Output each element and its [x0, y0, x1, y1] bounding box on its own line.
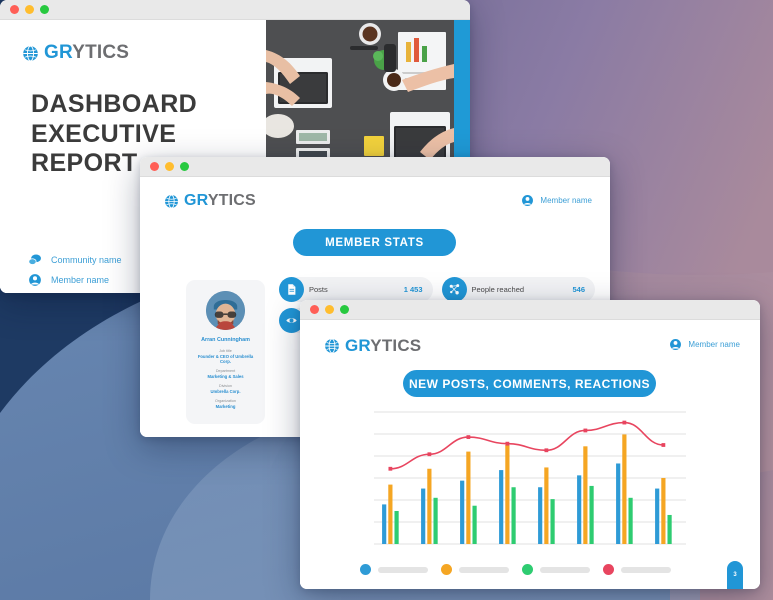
- trend-point-5: [544, 448, 548, 452]
- profile-field-organization: Organization Marketing: [192, 399, 259, 409]
- stats-row: Posts 1 453 People reached 546: [279, 277, 595, 302]
- legend-item-trend[interactable]: [603, 564, 671, 575]
- legend-item-posts[interactable]: [360, 564, 428, 575]
- avatar: [206, 291, 245, 330]
- member-badge[interactable]: Member name: [669, 338, 740, 351]
- chart-window-body: GRYTICS Member name NEW POSTS, COMMENTS,…: [300, 320, 760, 589]
- bar-posts-4: [499, 470, 503, 544]
- member-badge-label: Member name: [688, 340, 740, 349]
- logo-text-gr: GR: [184, 192, 208, 209]
- grytics-wordmark: GRYTICS: [345, 336, 421, 356]
- close-button[interactable]: [150, 162, 159, 171]
- bar-comments-1: [388, 485, 392, 544]
- grytics-wordmark: GRYTICS: [44, 42, 129, 64]
- document-icon: [279, 277, 304, 302]
- profile-field-division: Division Umbrella Corp.: [192, 384, 259, 394]
- field-value: Marketing: [192, 404, 259, 409]
- bar-comments-2: [427, 469, 431, 544]
- user-circle-icon: [669, 338, 682, 351]
- globe-icon: [22, 45, 39, 62]
- bar-reactions-7: [628, 498, 632, 544]
- grytics-logo[interactable]: GRYTICS: [324, 336, 421, 356]
- network-icon: [442, 277, 467, 302]
- trend-point-7: [622, 421, 626, 425]
- minimize-button[interactable]: [165, 162, 174, 171]
- legend-dot-reactions: [522, 564, 533, 575]
- stat-posts[interactable]: Posts 1 453: [279, 277, 433, 302]
- profile-name: Arran Cunningham: [192, 337, 259, 344]
- grytics-logo[interactable]: GRYTICS: [164, 192, 256, 210]
- bar-comments-8: [661, 478, 665, 544]
- legend-placeholder-bar: [540, 567, 590, 573]
- maximize-button[interactable]: [340, 305, 349, 314]
- profile-card: Arran Cunningham Job title Founder & CEO…: [186, 280, 265, 424]
- trend-point-2: [427, 452, 431, 456]
- legend-dot-comments: [441, 564, 452, 575]
- bar-posts-8: [655, 489, 659, 544]
- legend-dot-posts: [360, 564, 371, 575]
- chart-svg: [374, 408, 686, 548]
- minimize-button[interactable]: [25, 5, 34, 14]
- chart-window-titlebar[interactable]: [300, 300, 760, 320]
- cover-window-titlebar[interactable]: [0, 0, 470, 20]
- maximize-button[interactable]: [40, 5, 49, 14]
- bar-posts-5: [538, 487, 542, 544]
- stat-value: 1 453: [404, 285, 423, 294]
- chart-bars: [382, 434, 672, 544]
- stat-label: People reached: [472, 285, 573, 294]
- user-circle-icon: [28, 273, 42, 287]
- bar-reactions-1: [394, 511, 398, 544]
- legend-item-comments[interactable]: [441, 564, 509, 575]
- bar-reactions-8: [667, 515, 671, 544]
- member-badge-label: Member name: [540, 196, 592, 205]
- globe-icon: [324, 338, 340, 354]
- member-name-row: Member name: [28, 273, 109, 287]
- bar-reactions-3: [472, 506, 476, 544]
- field-value: Founder & CEO of Umbrella Corp.: [192, 354, 259, 365]
- trend-point-6: [583, 429, 587, 433]
- trend-point-1: [388, 467, 392, 471]
- trend-point-3: [466, 435, 470, 439]
- legend-item-reactions[interactable]: [522, 564, 590, 575]
- community-name-label: Community name: [51, 255, 122, 265]
- chart-window[interactable]: GRYTICS Member name NEW POSTS, COMMENTS,…: [300, 300, 760, 589]
- bar-comments-7: [622, 434, 626, 544]
- maximize-button[interactable]: [180, 162, 189, 171]
- legend-placeholder-bar: [621, 567, 671, 573]
- close-button[interactable]: [310, 305, 319, 314]
- community-name-row: Community name: [28, 253, 122, 267]
- logo-text-ytics: YTICS: [370, 336, 421, 355]
- bar-comments-6: [583, 446, 587, 544]
- grytics-wordmark: GRYTICS: [184, 192, 256, 210]
- field-value: Umbrella Corp.: [192, 389, 259, 394]
- profile-field-job-title: Job title Founder & CEO of Umbrella Corp…: [192, 349, 259, 364]
- member-name-label: Member name: [51, 275, 109, 285]
- bar-comments-3: [466, 452, 470, 544]
- trend-point-4: [505, 442, 509, 446]
- bar-posts-6: [577, 475, 581, 544]
- member-stats-banner: MEMBER STATS: [293, 229, 456, 256]
- chart-gridlines: [374, 412, 686, 544]
- member-badge[interactable]: Member name: [521, 194, 592, 207]
- stat-label: Posts: [309, 285, 404, 294]
- logo-text-gr: GR: [44, 42, 72, 63]
- logo-text-ytics: YTICS: [208, 192, 256, 209]
- logo-text-gr: GR: [345, 336, 370, 355]
- logo-text-ytics: YTICS: [72, 42, 129, 63]
- bar-posts-1: [382, 504, 386, 544]
- stats-window-titlebar[interactable]: [140, 157, 610, 177]
- legend-dot-trend: [603, 564, 614, 575]
- bar-posts-2: [421, 489, 425, 544]
- bar-comments-4: [505, 445, 509, 544]
- legend-placeholder-bar: [378, 567, 428, 573]
- title-line-2: EXECUTIVE: [31, 120, 261, 150]
- grytics-logo[interactable]: GRYTICS: [22, 42, 129, 64]
- bar-posts-7: [616, 463, 620, 544]
- bar-posts-3: [460, 481, 464, 544]
- bar-line-chart: [374, 408, 686, 548]
- user-circle-icon: [521, 194, 534, 207]
- avatar-illustration: [206, 291, 245, 330]
- chat-bubbles-icon: [28, 253, 42, 267]
- bar-reactions-6: [589, 486, 593, 544]
- field-value: Marketing & Sales: [192, 374, 259, 379]
- trend-point-8: [661, 443, 665, 447]
- profile-field-department: Department Marketing & Sales: [192, 369, 259, 379]
- stat-people-reached[interactable]: People reached 546: [442, 277, 596, 302]
- minimize-button[interactable]: [325, 305, 334, 314]
- bar-reactions-5: [550, 499, 554, 544]
- bar-reactions-2: [433, 498, 437, 544]
- chart-legend: [360, 564, 700, 575]
- legend-placeholder-bar: [459, 567, 509, 573]
- stat-value: 546: [572, 285, 585, 294]
- bar-comments-5: [544, 467, 548, 544]
- close-button[interactable]: [10, 5, 19, 14]
- page-number-tab[interactable]: 3: [727, 561, 743, 589]
- bar-reactions-4: [511, 487, 515, 544]
- globe-icon: [164, 194, 179, 209]
- chart-banner: NEW POSTS, COMMENTS, REACTIONS: [403, 370, 656, 397]
- title-line-1: DASHBOARD: [31, 90, 261, 120]
